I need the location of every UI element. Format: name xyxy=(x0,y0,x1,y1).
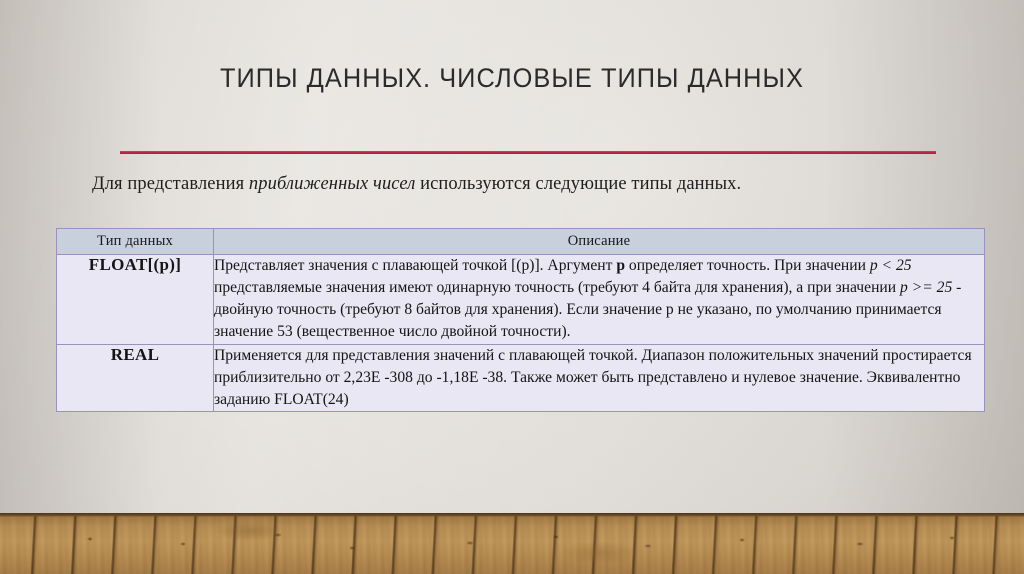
intro-text-emphasis: приближенных чисел xyxy=(249,174,415,194)
column-header-description: Описание xyxy=(214,229,985,255)
cell-type-real: REAL xyxy=(57,344,214,411)
table-header: Тип данных Описание xyxy=(57,229,985,255)
desc-float-bold-p: p xyxy=(616,257,625,274)
table-row: REAL Применяется для представления значе… xyxy=(57,344,985,411)
title-divider-rule xyxy=(120,151,936,154)
cell-description-float: Представляет значения с плавающей точкой… xyxy=(214,255,985,345)
cell-type-float: FLOAT[(p)] xyxy=(57,255,214,345)
desc-real-s1: Применяется для представления значений с… xyxy=(214,347,972,408)
desc-float-italic-p-lt-25: p < 25 xyxy=(870,257,912,274)
intro-paragraph: Для представления приближенных чисел исп… xyxy=(92,172,952,197)
floor-knots xyxy=(0,513,1024,574)
column-header-type: Тип данных xyxy=(57,229,214,255)
desc-float-s3: представляемые значения имеют одинарную … xyxy=(214,279,900,296)
slide: Типы данных. Числовые типы данных Для пр… xyxy=(0,0,1024,574)
table-row: FLOAT[(p)] Представляет значения с плава… xyxy=(57,255,985,345)
cell-description-real: Применяется для представления значений с… xyxy=(214,344,985,411)
intro-text-part1: Для представления xyxy=(92,174,249,194)
intro-text-part2: используются следующие типы данных. xyxy=(415,174,741,194)
table-body: FLOAT[(p)] Представляет значения с плава… xyxy=(57,255,985,412)
data-types-table-wrapper: Тип данных Описание FLOAT[(p)] Представл… xyxy=(56,228,985,412)
desc-float-italic-p-ge-25: p >= 25 xyxy=(900,279,952,296)
table-header-row: Тип данных Описание xyxy=(57,229,985,255)
data-types-table: Тип данных Описание FLOAT[(p)] Представл… xyxy=(56,228,985,412)
slide-title: Типы данных. Числовые типы данных xyxy=(31,63,994,94)
desc-float-s1: Представляет значения с плавающей точкой… xyxy=(214,257,616,274)
floor-wall-junction xyxy=(0,513,1024,517)
desc-float-s2: определяет точность. При значении xyxy=(625,257,870,274)
wood-floor-image xyxy=(0,513,1024,574)
